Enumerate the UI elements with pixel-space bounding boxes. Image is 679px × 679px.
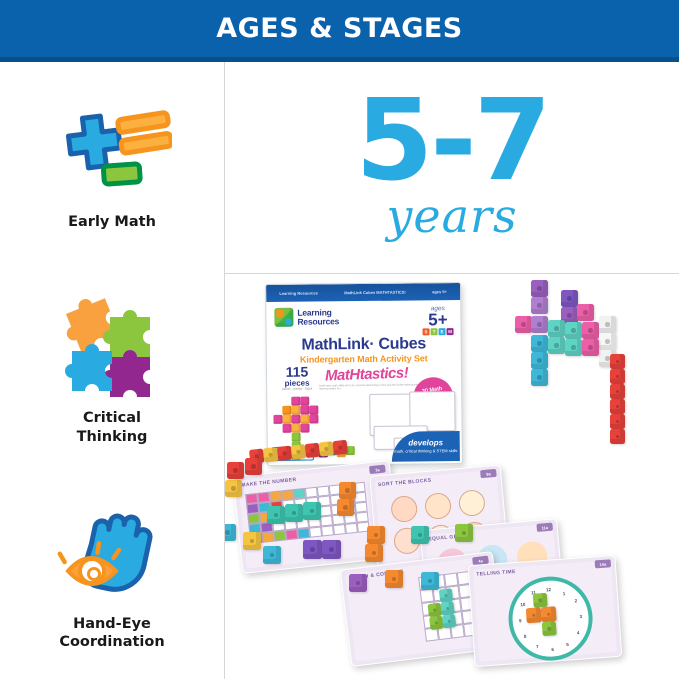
- box-topstrip-right: ages 5+: [432, 289, 447, 294]
- clock-number: 4: [577, 630, 580, 635]
- pieces-count: 115 pieces pièces · piezas · Stück: [277, 364, 317, 391]
- features-column: Early Math Critical: [0, 62, 224, 679]
- telling-time-card: TELLING TIME 10a 12 1 2 3 4 5 6 7 8 9 10…: [468, 555, 623, 667]
- feature-early-math: Early Math: [0, 62, 224, 268]
- clock-number: 2: [575, 598, 578, 603]
- box-ages-badge: ages 5+ S T E M: [422, 305, 453, 336]
- clock-number: 3: [579, 614, 582, 619]
- product-wordmark: MatHtastics!: [325, 364, 409, 384]
- product-box: Learning Resources MathLink Cubes MATHTA…: [265, 282, 463, 466]
- feature-label-critical-thinking: Critical Thinking: [77, 409, 148, 446]
- develops-sub: math, critical thinking & STEM skills: [394, 448, 457, 454]
- card-tag: 11a: [536, 523, 553, 532]
- box-topstrip-left: Learning Resources: [279, 290, 318, 295]
- clock-number: 6: [551, 647, 554, 652]
- clock-number: 10: [520, 602, 525, 607]
- feature-critical-thinking: Critical Thinking: [0, 268, 224, 474]
- feature-label-line1: Hand-Eye: [59, 615, 164, 634]
- feature-label-line1: Critical: [77, 409, 148, 428]
- critical-thinking-icon: [52, 295, 172, 399]
- card-tag: 10a: [595, 559, 612, 568]
- page-title: AGES & STAGES: [216, 13, 463, 44]
- pieces-translations: pièces · piezas · Stück: [277, 387, 317, 391]
- clock-number: 1: [563, 591, 566, 596]
- feature-label-line2: Thinking: [77, 428, 148, 447]
- box-top-strip: Learning Resources MathLink Cubes MATHTA…: [266, 283, 460, 302]
- ages-and-stages-infographic: AGES & STAGES: [0, 0, 679, 679]
- early-math-icon: [52, 99, 172, 203]
- feature-label-early-math: Early Math: [68, 213, 156, 232]
- learning-resources-logo: Learning Resources: [274, 307, 339, 327]
- feature-label-hand-eye: Hand-Eye Coordination: [59, 615, 164, 652]
- feature-hand-eye: Hand-Eye Coordination: [0, 473, 224, 679]
- hand-eye-coordination-icon: [52, 501, 172, 605]
- age-panel: 5-7 years: [225, 62, 679, 273]
- card-tag: 9a: [480, 469, 497, 478]
- feature-label-line2: Coordination: [59, 633, 164, 652]
- age-unit-label: years: [386, 189, 517, 243]
- clock-number: 9: [519, 618, 522, 623]
- pieces-number: 115: [277, 364, 317, 378]
- cube-tower: [505, 280, 625, 400]
- header-banner: AGES & STAGES: [0, 0, 679, 57]
- clock-number: 7: [536, 644, 539, 649]
- product-photo: Learning Resources MathLink Cubes MATHTA…: [225, 274, 679, 679]
- develops-word: develops: [392, 438, 460, 449]
- clock-number: 12: [546, 587, 551, 592]
- box-topstrip-mid: MathLink Cubes MATHTASTICS!: [344, 290, 405, 296]
- brand-name: Learning Resources: [297, 308, 339, 326]
- card-tag: 1a: [369, 465, 386, 475]
- product-title: MathLink· Cubes: [267, 335, 461, 355]
- clock-number: 8: [524, 634, 527, 639]
- cube-logo-icon: [274, 308, 293, 327]
- clock-number: 5: [566, 642, 569, 647]
- age-range: 5-7: [355, 92, 548, 191]
- ages-number: 5+: [422, 312, 453, 328]
- brand-line2: Resources: [297, 317, 339, 326]
